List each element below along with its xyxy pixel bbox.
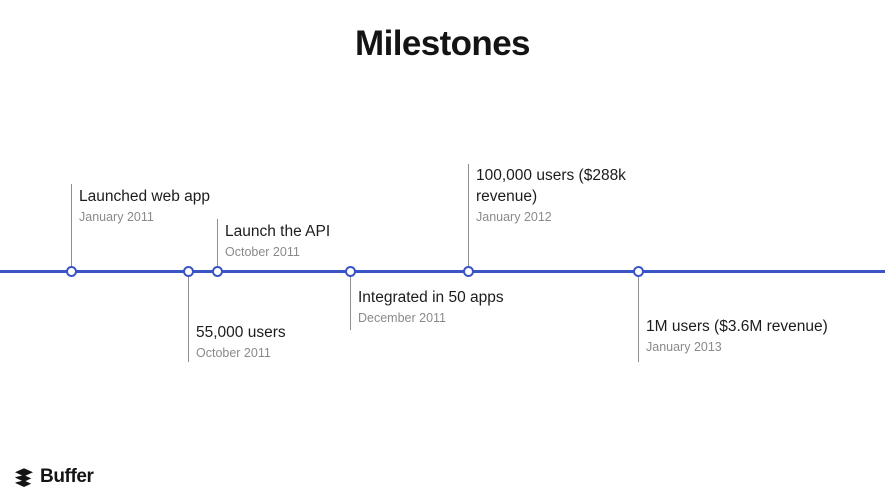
milestone-title: 55,000 users (196, 322, 286, 343)
stacked-layers-icon (14, 467, 34, 487)
milestone-label: 55,000 users October 2011 (196, 322, 286, 362)
milestone-label: 100,000 users ($288k revenue) January 20… (476, 165, 644, 226)
milestone-label: 1M users ($3.6M revenue) January 2013 (646, 316, 828, 356)
milestone-date: January 2013 (646, 338, 828, 356)
milestone-label: Launch the API October 2011 (225, 221, 330, 261)
milestone-date: January 2011 (79, 208, 210, 226)
milestone-node[interactable] (463, 266, 474, 277)
milestone-title: Launched web app (79, 186, 210, 207)
milestone-label: Launched web app January 2011 (79, 186, 210, 226)
milestone-node[interactable] (183, 266, 194, 277)
milestone-date: December 2011 (358, 309, 504, 327)
milestone-node[interactable] (66, 266, 77, 277)
milestone-stem (188, 272, 189, 362)
milestone-title: Integrated in 50 apps (358, 287, 504, 308)
brand-name: Buffer (40, 466, 94, 488)
slide-canvas: Milestones Launched web app January 2011… (0, 0, 885, 497)
milestone-date: January 2012 (476, 208, 644, 226)
milestone-stem (217, 219, 218, 272)
timeline-axis (0, 270, 885, 273)
milestone-stem (468, 164, 469, 272)
milestone-title: Launch the API (225, 221, 330, 242)
milestone-label: Integrated in 50 apps December 2011 (358, 287, 504, 327)
milestone-title: 1M users ($3.6M revenue) (646, 316, 828, 337)
milestone-stem (350, 272, 351, 330)
milestone-stem (71, 184, 72, 272)
milestone-date: October 2011 (225, 243, 330, 261)
milestone-date: October 2011 (196, 344, 286, 362)
page-title: Milestones (0, 22, 885, 66)
milestone-node[interactable] (633, 266, 644, 277)
milestone-node[interactable] (212, 266, 223, 277)
milestone-node[interactable] (345, 266, 356, 277)
brand-logo: Buffer (14, 466, 94, 488)
milestone-title: 100,000 users ($288k revenue) (476, 165, 644, 207)
milestone-stem (638, 272, 639, 362)
